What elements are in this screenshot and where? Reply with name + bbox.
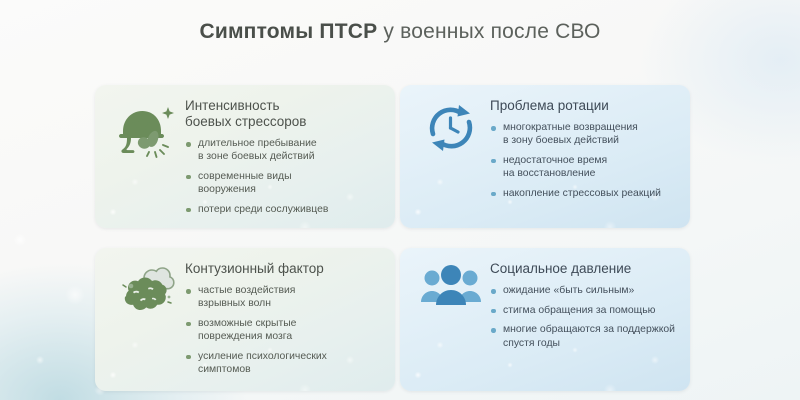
list-item: частые воздействия взрывных волн: [185, 284, 381, 310]
list-item: накопление стрессовых реакций: [490, 187, 676, 200]
card-title: Проблема ротации: [490, 98, 676, 114]
card-bullet-list: частые воздействия взрывных волн возможн…: [185, 284, 381, 376]
list-item: ожидание «быть сильным»: [490, 284, 676, 297]
clock-rotation-icon: [412, 97, 490, 218]
list-item: современные виды вооружения: [185, 170, 381, 196]
people-group-icon: [412, 260, 490, 381]
card-title: Контузионный фактор: [185, 261, 381, 277]
list-item: стигма обращения за помощью: [490, 304, 676, 317]
card-bullet-list: ожидание «быть сильным» стигма обращения…: [490, 284, 676, 350]
list-item: усиление психологических симптомов: [185, 350, 381, 376]
card-bullet-list: многократные возвращения в зону боевых д…: [490, 121, 676, 200]
page-title: Симптомы ПТСР у военных после СВО: [0, 20, 800, 44]
list-item: недостаточное время на восстановление: [490, 154, 676, 180]
brain-blast-icon: [107, 260, 185, 381]
slide-canvas: Симптомы ПТСР у военных после СВО: [0, 0, 800, 400]
card-social-pressure[interactable]: Социальное давление ожидание «быть сильн…: [400, 248, 690, 391]
page-title-rest: у военных после СВО: [377, 20, 600, 43]
card-bullet-list: длительное пребывание в зоне боевых дейс…: [185, 137, 381, 216]
military-helmet-icon: [107, 97, 185, 218]
card-rotation[interactable]: Проблема ротации многократные возвращени…: [400, 85, 690, 228]
list-item: длительное пребывание в зоне боевых дейс…: [185, 137, 381, 163]
list-item: многократные возвращения в зону боевых д…: [490, 121, 676, 147]
list-item: возможные скрытые повреждения мозга: [185, 317, 381, 343]
card-title: Социальное давление: [490, 261, 676, 277]
card-combat-stressors[interactable]: Интенсивность боевых стрессоров длительн…: [95, 85, 395, 228]
card-concussion[interactable]: Контузионный фактор частые воздействия в…: [95, 248, 395, 391]
list-item: потери среди сослуживцев: [185, 203, 381, 216]
card-title: Интенсивность боевых стрессоров: [185, 98, 381, 130]
list-item: многие обращаются за поддержкой спустя г…: [490, 323, 676, 349]
page-title-bold: Симптомы ПТСР: [199, 20, 377, 43]
